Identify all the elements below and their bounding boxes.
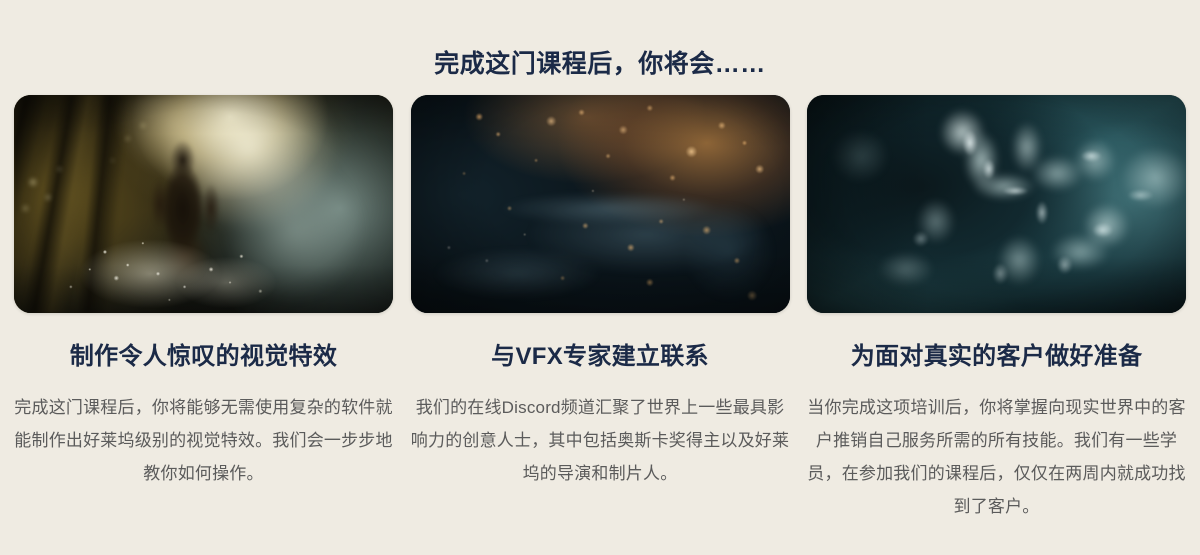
section-heading: 完成这门课程后，你将会…… (0, 47, 1200, 81)
benefit-card-title: 为面对真实的客户做好准备 (851, 341, 1143, 373)
teal-smoke-thumbnail (807, 95, 1186, 313)
benefit-card-list: 制作令人惊叹的视觉特效 完成这门课程后，你将能够无需使用复杂的软件就能制作出好莱… (14, 95, 1186, 540)
image-vignette-layer (14, 95, 393, 313)
benefit-card-body: 完成这门课程后，你将能够无需使用复杂的软件就能制作出好莱坞级别的视觉特效。我们会… (14, 391, 393, 490)
ember-particles-thumbnail (411, 95, 790, 313)
benefit-card-title: 制作令人惊叹的视觉特效 (70, 341, 337, 373)
image-vignette-layer (411, 95, 790, 313)
benefit-card-title: 与VFX专家建立联系 (491, 341, 709, 373)
benefit-card-body: 我们的在线Discord频道汇聚了世界上一些最具影响力的创意人士，其中包括奥斯卡… (409, 391, 792, 490)
runner-in-water-thumbnail (14, 95, 393, 313)
benefit-card: 为面对真实的客户做好准备 当你完成这项培训后，你将掌握向现实世界中的客户推销自己… (807, 95, 1186, 540)
benefit-card-body: 当你完成这项培训后，你将掌握向现实世界中的客户推销自己服务所需的所有技能。我们有… (805, 391, 1188, 523)
benefit-card: 与VFX专家建立联系 我们的在线Discord频道汇聚了世界上一些最具影响力的创… (411, 95, 790, 507)
image-vignette-layer (807, 95, 1186, 313)
benefit-card: 制作令人惊叹的视觉特效 完成这门课程后，你将能够无需使用复杂的软件就能制作出好莱… (14, 95, 393, 507)
benefits-section: 完成这门课程后，你将会…… 制作令人惊叹的视觉特效 完成这门课程后，你将能够无需… (0, 0, 1200, 555)
